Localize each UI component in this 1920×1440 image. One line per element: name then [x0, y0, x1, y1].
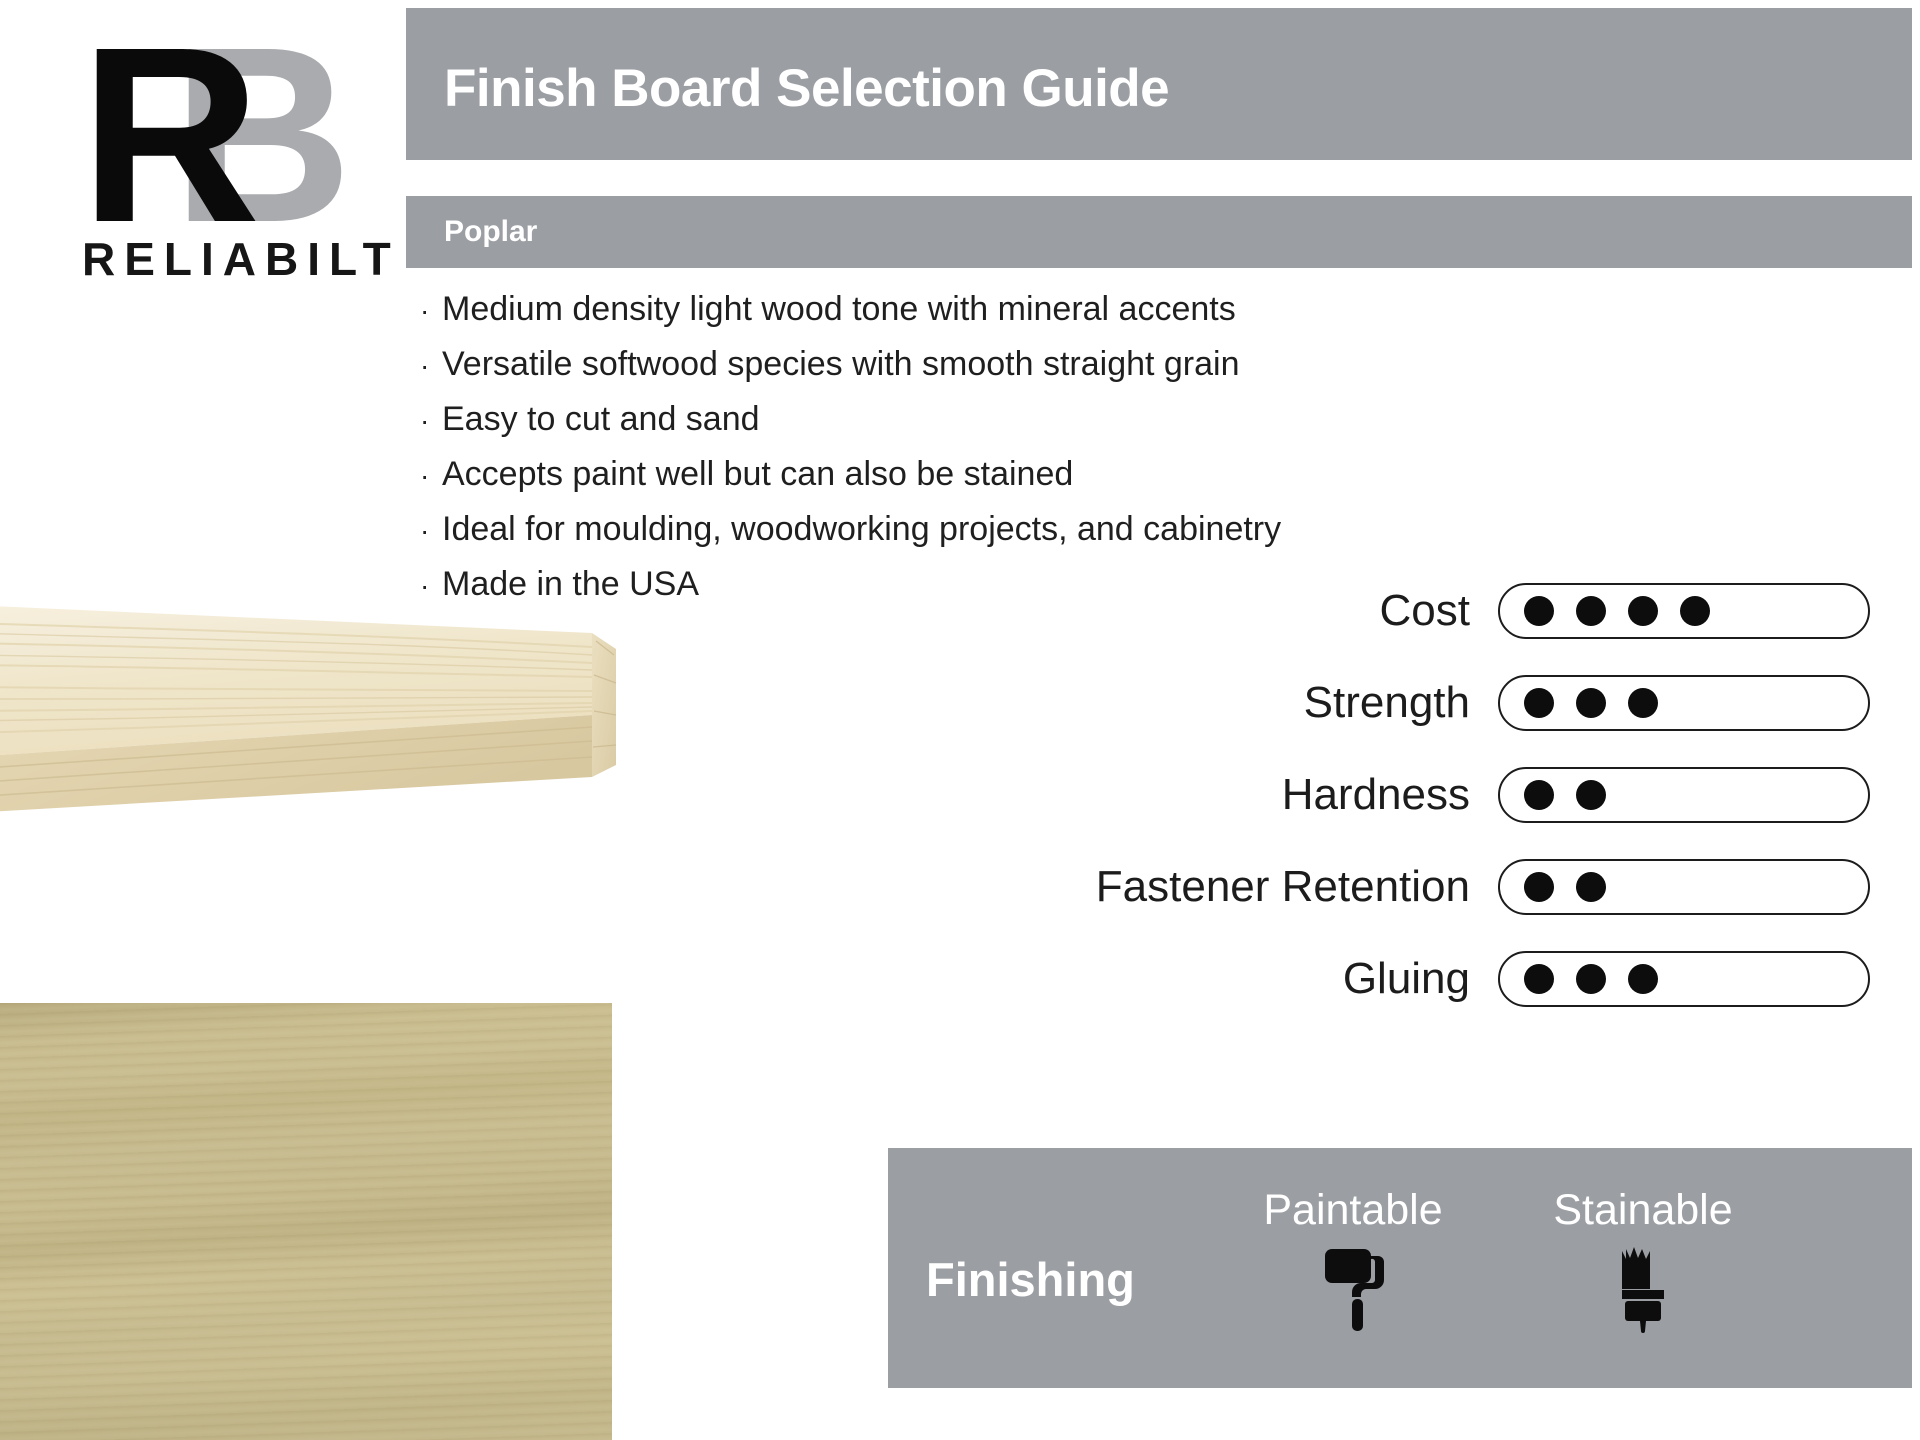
- rating-dot-filled: [1628, 688, 1658, 718]
- rating-dot-filled: [1680, 596, 1710, 626]
- rating-label: Hardness: [1282, 770, 1470, 820]
- rating-dot-empty: [1732, 688, 1762, 718]
- logo-wordmark: RELIABILT: [82, 232, 400, 286]
- title-bar: Finish Board Selection Guide: [406, 8, 1912, 160]
- rating-row: Fastener Retention: [930, 856, 1870, 918]
- rating-label: Fastener Retention: [1096, 862, 1470, 912]
- rating-dot-filled: [1524, 872, 1554, 902]
- rating-row: Strength: [930, 672, 1870, 734]
- rating-label: Strength: [1304, 678, 1470, 728]
- logo-letter-r: R: [80, 10, 251, 260]
- paint-roller-icon: [1218, 1243, 1488, 1335]
- feature-text: Medium density light wood tone with mine…: [442, 292, 1236, 326]
- logo-mark: B R: [42, 10, 402, 215]
- bullet-icon: ·: [420, 462, 442, 490]
- finishing-label: Finishing: [926, 1252, 1135, 1307]
- rating-dot-filled: [1576, 688, 1606, 718]
- page-title: Finish Board Selection Guide: [444, 58, 1169, 119]
- rating-label: Gluing: [1343, 954, 1470, 1004]
- rating-dot-filled: [1524, 688, 1554, 718]
- bullet-icon: ·: [420, 352, 442, 380]
- species-name: Poplar: [444, 215, 537, 249]
- rating-dot-filled: [1576, 596, 1606, 626]
- bullet-icon: ·: [420, 407, 442, 435]
- rating-row: Hardness: [930, 764, 1870, 826]
- rating-dot-empty: [1732, 872, 1762, 902]
- list-item: · Accepts paint well but can also be sta…: [420, 457, 1600, 491]
- rating-dot-empty: [1628, 780, 1658, 810]
- rating-dot-filled: [1524, 780, 1554, 810]
- rating-dot-filled: [1576, 780, 1606, 810]
- rating-dot-empty: [1680, 688, 1710, 718]
- rating-dot-empty: [1732, 596, 1762, 626]
- rating-pill: [1498, 859, 1870, 915]
- rating-row: Cost: [930, 580, 1870, 642]
- rating-pill: [1498, 675, 1870, 731]
- rating-dot-filled: [1576, 964, 1606, 994]
- brand-logo: B R RELIABILT ™: [42, 10, 442, 280]
- rating-dot-empty: [1732, 964, 1762, 994]
- rating-dot-empty: [1680, 872, 1710, 902]
- feature-text: Accepts paint well but can also be stain…: [442, 457, 1073, 491]
- ratings-panel: CostStrengthHardnessFastener RetentionGl…: [930, 580, 1870, 1040]
- poplar-grain-swatch: [0, 1003, 612, 1440]
- feature-text: Versatile softwood species with smooth s…: [442, 347, 1240, 381]
- rating-dot-filled: [1524, 596, 1554, 626]
- poplar-board-photo: [0, 525, 620, 825]
- finishing-option-paintable: Paintable: [1218, 1186, 1488, 1335]
- paint-brush-icon: [1508, 1243, 1778, 1335]
- rating-dot-filled: [1628, 964, 1658, 994]
- rating-pill: [1498, 583, 1870, 639]
- feature-text: Easy to cut and sand: [442, 402, 760, 436]
- finishing-bar: Finishing Paintable Stainable: [888, 1148, 1912, 1388]
- rating-dot-filled: [1524, 964, 1554, 994]
- finishing-option-stainable: Stainable: [1508, 1186, 1778, 1335]
- list-item: · Easy to cut and sand: [420, 402, 1600, 436]
- rating-row: Gluing: [930, 948, 1870, 1010]
- rating-label: Cost: [1380, 586, 1470, 636]
- rating-dot-filled: [1576, 872, 1606, 902]
- rating-pill: [1498, 767, 1870, 823]
- finishing-option-label: Stainable: [1508, 1186, 1778, 1235]
- list-item: · Versatile softwood species with smooth…: [420, 347, 1600, 381]
- finishing-option-label: Paintable: [1218, 1186, 1488, 1235]
- rating-dot-empty: [1628, 872, 1658, 902]
- bullet-icon: ·: [420, 297, 442, 325]
- rating-dot-filled: [1628, 596, 1658, 626]
- species-bar: Poplar: [406, 196, 1912, 268]
- rating-dot-empty: [1680, 780, 1710, 810]
- list-item: · Medium density light wood tone with mi…: [420, 292, 1600, 326]
- rating-dot-empty: [1680, 964, 1710, 994]
- rating-dot-empty: [1732, 780, 1762, 810]
- rating-pill: [1498, 951, 1870, 1007]
